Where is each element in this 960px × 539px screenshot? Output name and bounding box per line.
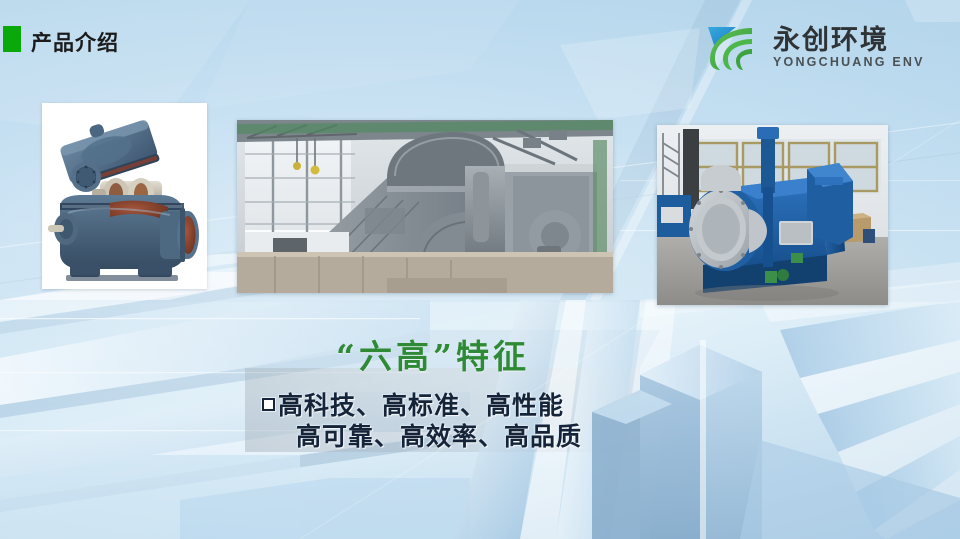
feature-bullet-text: 高科技、高标准、高性能 高可靠、高效率、高品质 bbox=[278, 390, 582, 452]
slide-canvas: 产品介绍 永创环境 YONGCHUANG ENV bbox=[0, 0, 960, 539]
green-square-marker-icon bbox=[3, 26, 21, 52]
company-logo: 永创环境 YONGCHUANG ENV bbox=[706, 18, 914, 78]
photo-factory-interior-machinery bbox=[237, 120, 613, 293]
feature-bullet-line-1: 高科技、高标准、高性能 bbox=[278, 391, 564, 420]
square-bullet-icon bbox=[262, 398, 275, 411]
logo-company-name-en: YONGCHUANG ENV bbox=[773, 55, 925, 69]
feature-bullet-block: 高科技、高标准、高性能 高可靠、高效率、高品质 bbox=[262, 390, 582, 452]
feature-heading: “六高”特征 bbox=[336, 330, 530, 378]
page-title: 产品介绍 bbox=[31, 27, 119, 57]
photo-blue-blower-unit bbox=[657, 125, 888, 305]
logo-company-name-cn: 永创环境 bbox=[773, 27, 925, 55]
yongchuang-swoosh-logo-icon bbox=[706, 23, 760, 73]
photo-split-case-pump-cutaway bbox=[42, 103, 207, 289]
feature-bullet-line-2: 高可靠、高效率、高品质 bbox=[278, 421, 582, 452]
